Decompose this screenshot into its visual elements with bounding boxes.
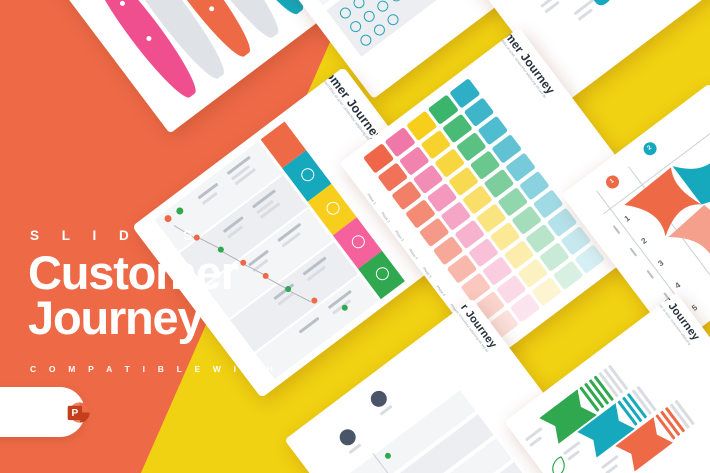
compatible-with-label: C O M P A T I B L E W I T H [30,364,328,374]
powerpoint-icon: P [66,399,93,426]
hero-text-block: S L I D E S Customer Journey C O M P A T… [28,228,328,374]
poster-canvas: Customer Journey Lorem ipsum dolor sit a… [0,0,710,473]
title-line-2: Journey [28,295,328,340]
kicker-label: S L I D E S [30,228,328,243]
svg-text:P: P [71,408,78,419]
page-title: Customer Journey [28,250,328,340]
